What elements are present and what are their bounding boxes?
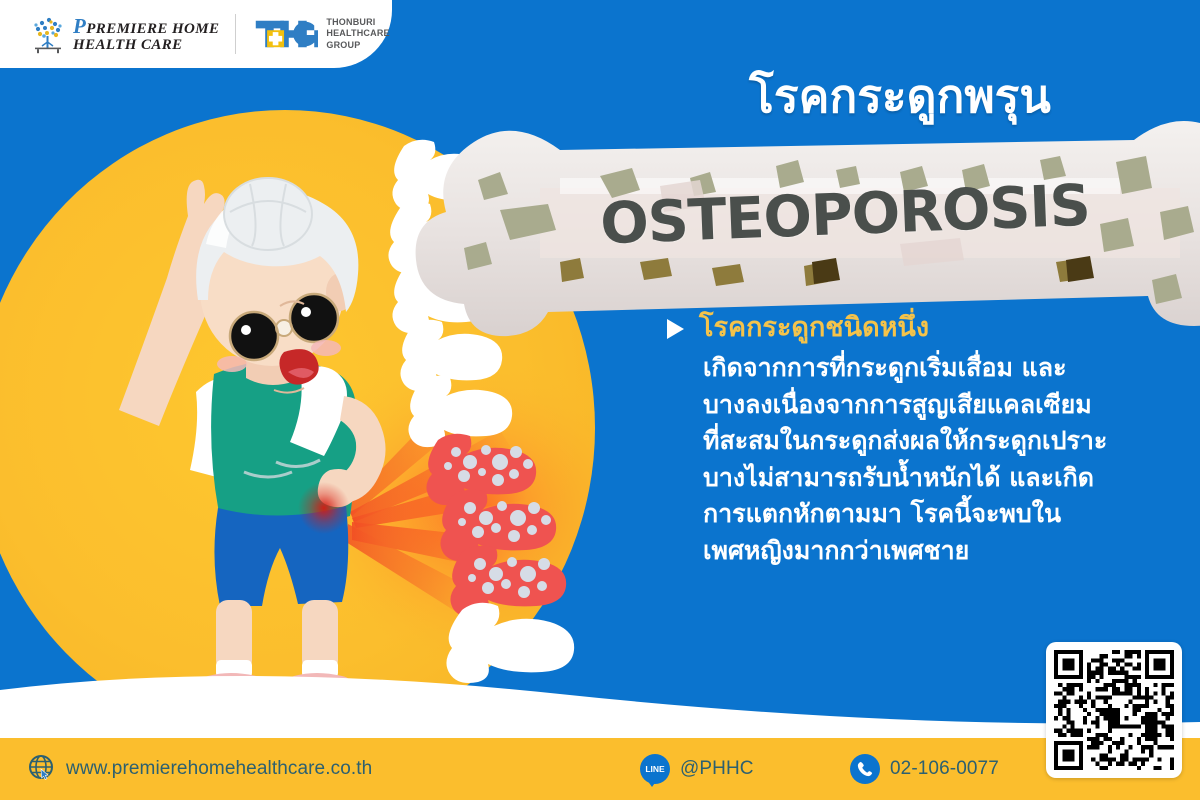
logo-thonburi-healthcare-group[interactable]: THONBURI HEALTHCARE GROUP <box>252 17 389 51</box>
content-heading: โรคกระดูกชนิดหนึ่ง <box>699 310 929 346</box>
logo-line-1: PREMIERE HOME <box>86 21 219 37</box>
thg-logo-icon <box>252 17 318 51</box>
qr-code[interactable] <box>1046 642 1182 778</box>
logo-line-2: HEALTH CARE <box>73 38 219 53</box>
content-line: บางไม่สามารถรับน้ำหนักได้ และเกิด <box>703 460 1165 497</box>
poster-root: PPREMIERE HOME HEALTH CARE <box>0 0 1200 800</box>
page-title: โรคกระดูกพรุน <box>630 60 1170 133</box>
footer-phone[interactable]: 02-106-0077 <box>850 754 999 784</box>
pain-spot <box>298 482 350 534</box>
footer-bar: www.premierehomehealthcare.co.th LINE @P… <box>0 738 1200 800</box>
footer-website[interactable]: www.premierehomehealthcare.co.th <box>28 754 372 785</box>
logo-divider <box>235 14 236 54</box>
content-line: เพศหญิงมากกว่าเพศชาย <box>703 533 1165 570</box>
content-block: โรคกระดูกชนิดหนึ่ง เกิดจากการที่กระดูกเร… <box>665 310 1165 569</box>
content-line: การแตกหักตามมา โรคนี้จะพบใน <box>703 496 1165 533</box>
footer-line-text: @PHHC <box>680 758 754 780</box>
globe-icon <box>28 754 54 785</box>
tree-icon <box>28 14 68 54</box>
thg-line-2: HEALTHCARE <box>326 28 389 39</box>
thg-line-1: THONBURI <box>326 17 389 28</box>
line-icon: LINE <box>640 754 670 784</box>
footer-phone-text: 02-106-0077 <box>890 758 999 780</box>
logo-premiere-home-health-care[interactable]: PPREMIERE HOME HEALTH CARE <box>28 14 219 54</box>
header-logo-bar: PPREMIERE HOME HEALTH CARE <box>0 0 392 68</box>
footer-website-text: www.premierehomehealthcare.co.th <box>66 758 372 780</box>
banner-label-osteoporosis: OSTEOPOROSIS <box>491 102 1198 329</box>
phone-icon <box>850 754 880 784</box>
thg-line-3: GROUP <box>326 40 389 51</box>
content-paragraph: เกิดจากการที่กระดูกเริ่มเสื่อม และ บางลง… <box>665 350 1165 569</box>
bone-banner-wrapper: OSTEOPOROSIS <box>495 115 1195 315</box>
play-triangle-icon <box>665 318 685 344</box>
content-line: เกิดจากการที่กระดูกเริ่มเสื่อม และ <box>703 350 1165 387</box>
content-line: ที่สะสมในกระดูกส่งผลให้กระดูกเปราะ <box>703 423 1165 460</box>
footer-line-account[interactable]: LINE @PHHC <box>640 754 754 784</box>
content-line: บางลงเนื่องจากการสูญเสียแคลเซียม <box>703 387 1165 424</box>
